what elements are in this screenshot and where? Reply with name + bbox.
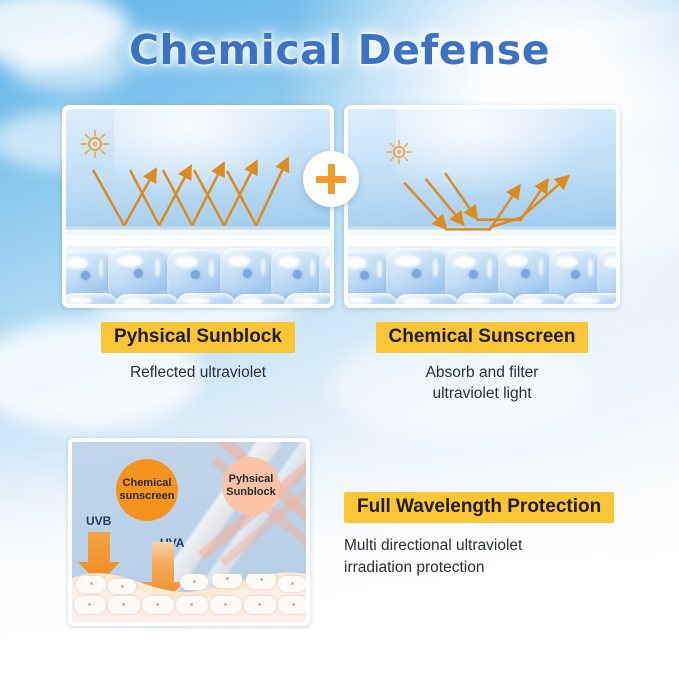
full-wavelength-subtext-line2: irradiation protection [344, 557, 654, 579]
skin-cell [278, 576, 306, 592]
page-title: Chemical Defense [0, 26, 679, 74]
chemical-caption: Chemical Sunscreen Absorb and filter ult… [344, 322, 620, 404]
full-wavelength-subtext-line1: Multi directional ultraviolet [344, 535, 654, 557]
physical-scene [66, 109, 330, 304]
skin-cell [74, 596, 106, 614]
reflected-uv-rays [66, 109, 330, 304]
plus-icon [316, 176, 346, 183]
skin-cross-section-scene: Chemical sunscreen Pyhsical Sunblock UVB… [72, 442, 306, 622]
chemical-badge: Chemical Sunscreen [376, 322, 589, 353]
chemical-scene [348, 109, 616, 304]
chemical-sunscreen-panel [344, 105, 620, 308]
skin-cell [76, 576, 106, 593]
chemical-subtext-line1: Absorb and filter [344, 362, 620, 383]
skin-cell [244, 596, 276, 614]
full-wavelength-subtext: Multi directional ultraviolet irradiatio… [344, 535, 654, 579]
comparison-panels [62, 105, 620, 308]
skin-cell [180, 574, 208, 590]
full-wavelength-panel: Chemical sunscreen Pyhsical Sunblock UVB… [68, 438, 310, 626]
skin-cell [176, 596, 208, 614]
skin-cell-layer [72, 574, 306, 622]
chemical-subtext-line2: ultraviolet light [344, 383, 620, 404]
skin-cell [212, 574, 242, 588]
full-wavelength-badge: Full Wavelength Protection [344, 492, 614, 523]
skin-cell [108, 579, 136, 594]
physical-caption: Pyhsical Sunblock Reflected ultraviolet [62, 322, 334, 383]
skin-cell [278, 596, 306, 614]
skin-cell [142, 596, 174, 614]
plus-badge [303, 151, 359, 207]
absorbed-uv-rays [348, 109, 616, 304]
poster-canvas: Chemical Defense [0, 0, 679, 679]
physical-sunblock-panel [62, 105, 334, 308]
skin-cell [108, 596, 140, 614]
physical-subtext: Reflected ultraviolet [62, 362, 334, 383]
skin-cell [210, 596, 242, 614]
chemical-subtext: Absorb and filter ultraviolet light [344, 362, 620, 404]
skin-cell [246, 574, 276, 589]
physical-badge: Pyhsical Sunblock [101, 322, 295, 353]
full-wavelength-caption: Full Wavelength Protection Multi directi… [344, 492, 654, 579]
